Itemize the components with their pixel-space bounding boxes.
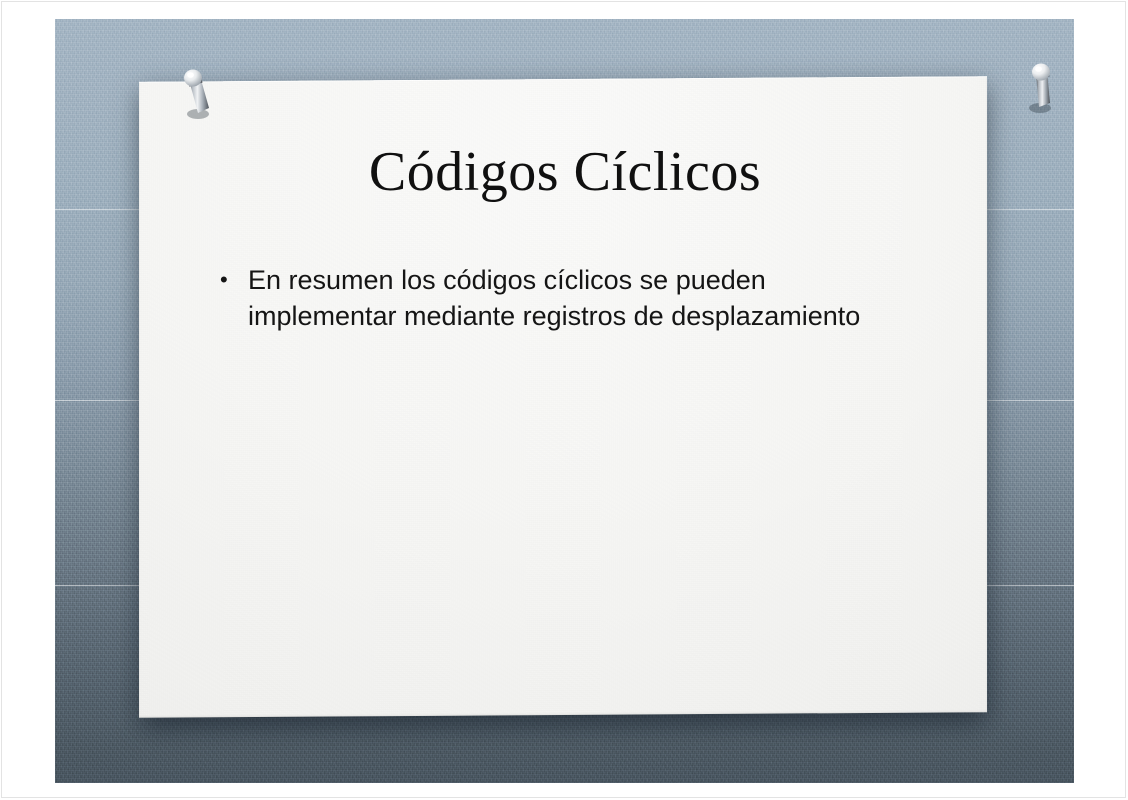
slide-page: Códigos Cíclicos • En resumen los código… [0, 0, 1128, 800]
page-title: Códigos Cíclicos [165, 143, 965, 202]
bullet-list: • En resumen los códigos cíclicos se pue… [220, 262, 870, 334]
slide-canvas: Códigos Cíclicos • En resumen los código… [55, 19, 1074, 783]
list-item: • En resumen los códigos cíclicos se pue… [220, 262, 870, 334]
bullet-text: En resumen los códigos cíclicos se puede… [248, 262, 870, 334]
pushpin-right-icon [1021, 61, 1061, 115]
bullet-point-icon: • [220, 262, 248, 298]
slide-content: Códigos Cíclicos • En resumen los código… [55, 19, 1074, 783]
pushpin-left-icon [176, 68, 216, 122]
